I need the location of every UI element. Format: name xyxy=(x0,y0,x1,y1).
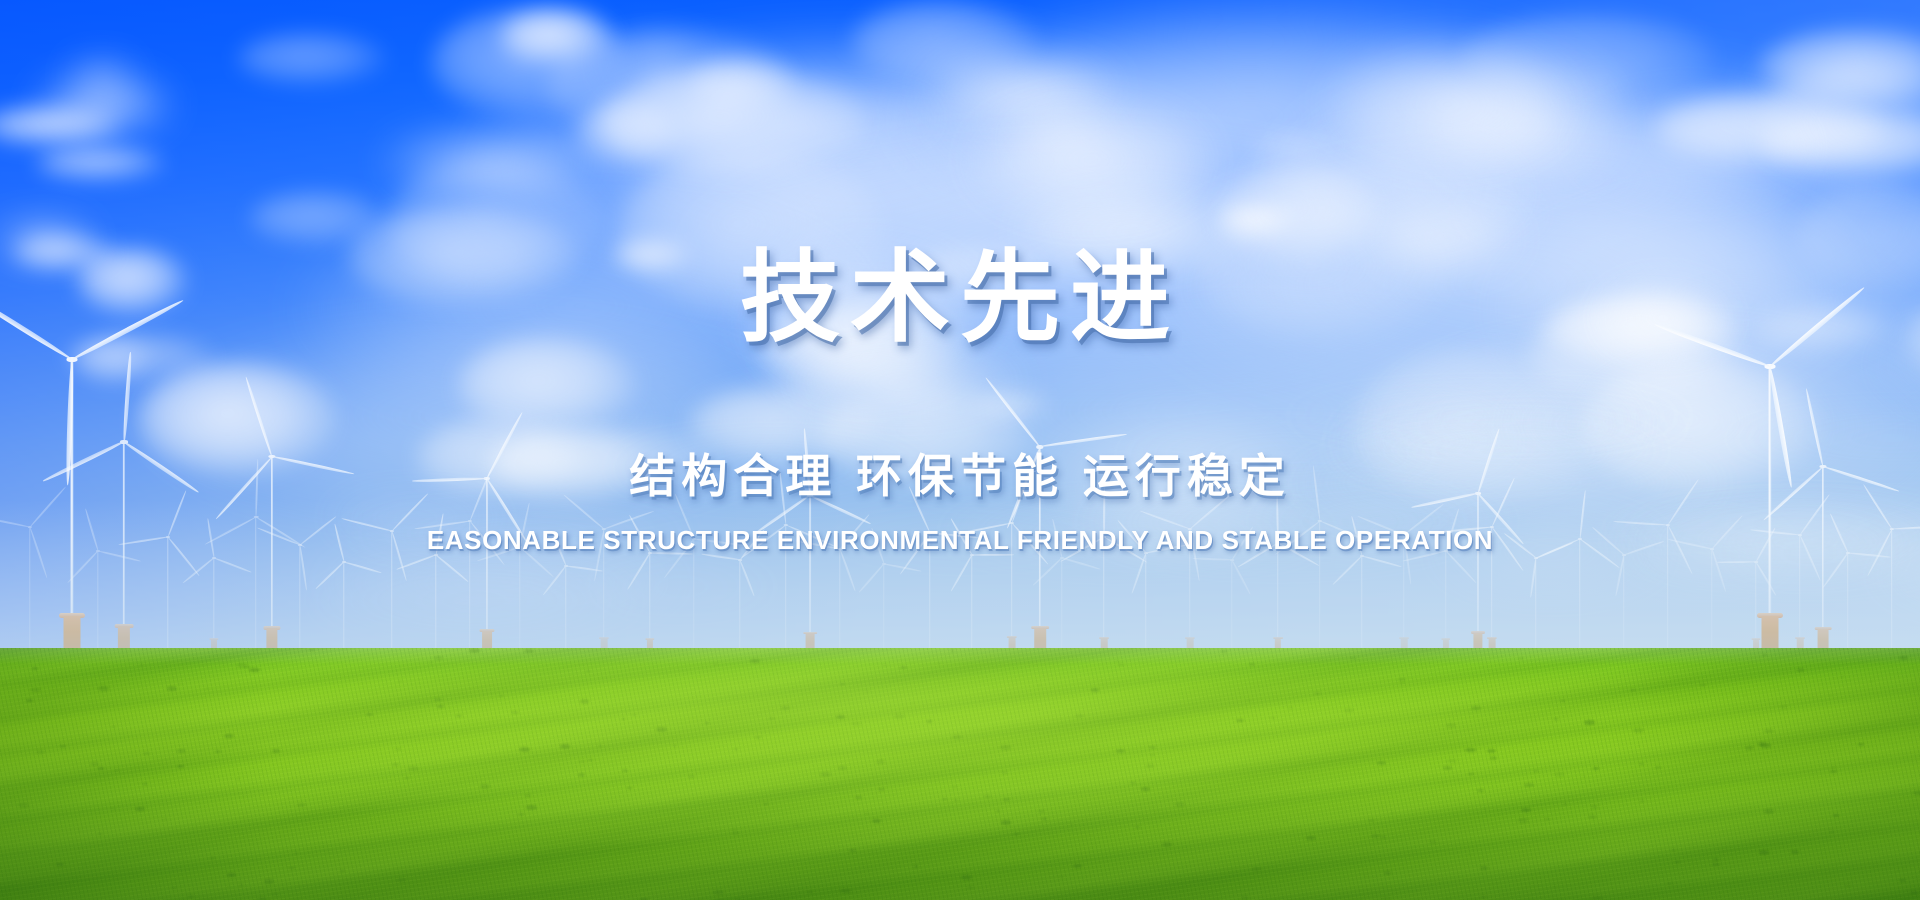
subtitle: 结构合理 环保节能 运行稳定 xyxy=(0,450,1920,503)
english-tagline: EASONABLE STRUCTURE ENVIRONMENTAL FRIEND… xyxy=(0,525,1920,556)
grass-vignette xyxy=(0,648,1920,900)
page-title: 技术先进 xyxy=(0,242,1920,354)
horizon-haze xyxy=(0,500,1920,652)
hero-banner: 技术先进 结构合理 环保节能 运行稳定 EASONABLE STRUCTURE … xyxy=(0,0,1920,900)
grass-field xyxy=(0,648,1920,900)
